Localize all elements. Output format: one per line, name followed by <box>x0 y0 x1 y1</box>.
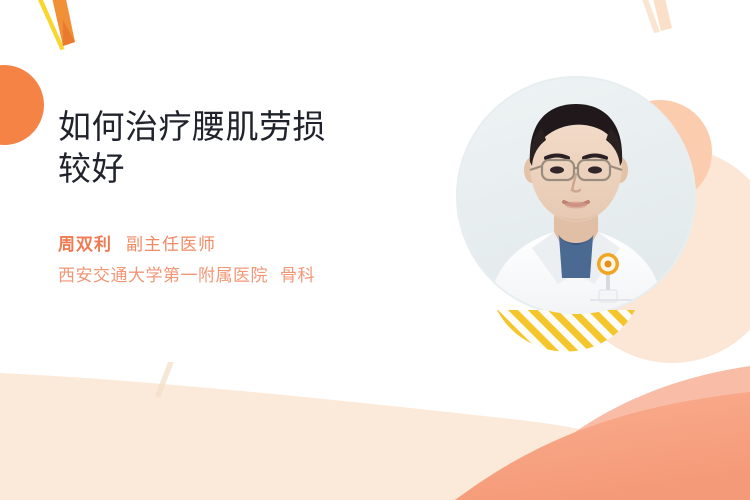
doctor-name: 周双利 <box>58 235 112 254</box>
credit-row-hospital: 西安交通大学第一附属医院骨科 <box>58 261 458 292</box>
top-right-stripes <box>638 0 672 33</box>
eye-right <box>588 166 602 173</box>
doctor-rank-title: 副主任医师 <box>126 235 216 254</box>
top-left-stripe-group <box>31 0 75 52</box>
lower-lip <box>565 202 587 209</box>
doctor-department: 骨科 <box>280 266 315 285</box>
credit-row-name: 周双利副主任医师 <box>58 230 458 261</box>
doctor-info-card: 如何治疗腰肌劳损 较好 周双利副主任医师 西安交通大学第一附属医院骨科 <box>0 0 750 500</box>
left-orange-circle <box>0 65 44 145</box>
eye-left <box>550 166 564 173</box>
doctor-portrait <box>458 78 694 314</box>
text-block: 如何治疗腰肌劳损 较好 周双利副主任医师 西安交通大学第一附属医院骨科 <box>58 106 458 292</box>
page-title: 如何治疗腰肌劳损 较好 <box>58 106 458 190</box>
doctor-credits: 周双利副主任医师 西安交通大学第一附属医院骨科 <box>58 230 458 292</box>
doctor-hospital: 西安交通大学第一附属医院 <box>58 266 268 285</box>
